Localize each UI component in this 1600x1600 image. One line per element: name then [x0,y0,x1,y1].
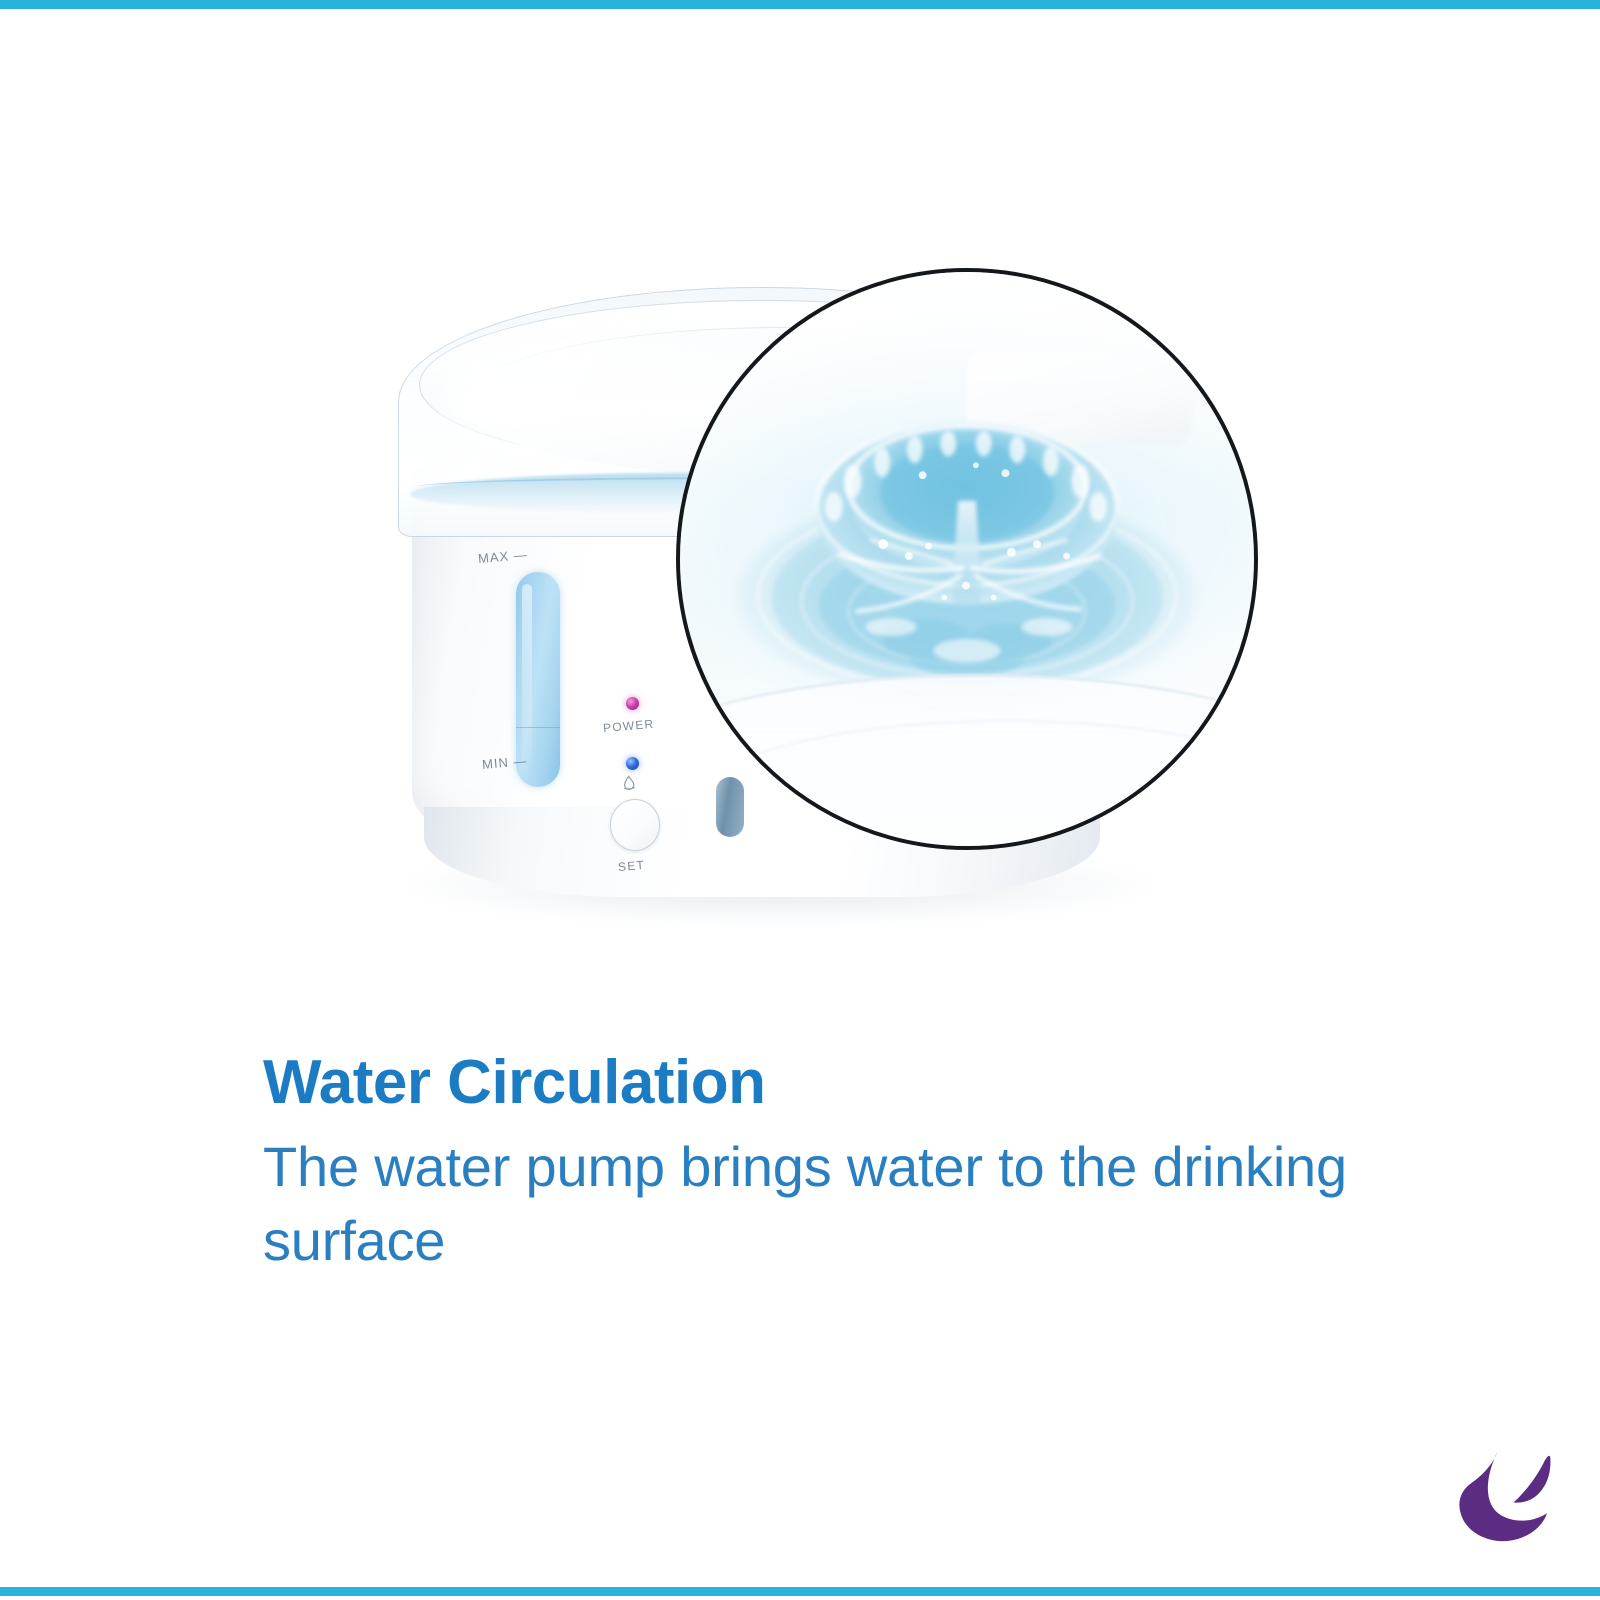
water-level-current-line [516,727,560,728]
caption-block: Water Circulation The water pump brings … [263,1050,1413,1278]
product-hero-illustration: MAX — MIN — POWER SET [0,9,1600,1009]
slide-canvas: MAX — MIN — POWER SET [0,0,1600,1600]
water-led-indicator [626,757,639,770]
set-button-label: SET [617,858,645,874]
brand-logo [1452,1443,1560,1551]
caption-title: Water Circulation [263,1050,1413,1116]
power-led-indicator [626,697,639,710]
magnifier-circle [676,268,1258,850]
top-accent-bar [0,0,1600,9]
caption-body: The water pump brings water to the drink… [263,1130,1373,1278]
bottom-accent-bar [0,1587,1600,1596]
water-drop-icon [619,774,638,792]
set-button[interactable] [610,799,660,851]
